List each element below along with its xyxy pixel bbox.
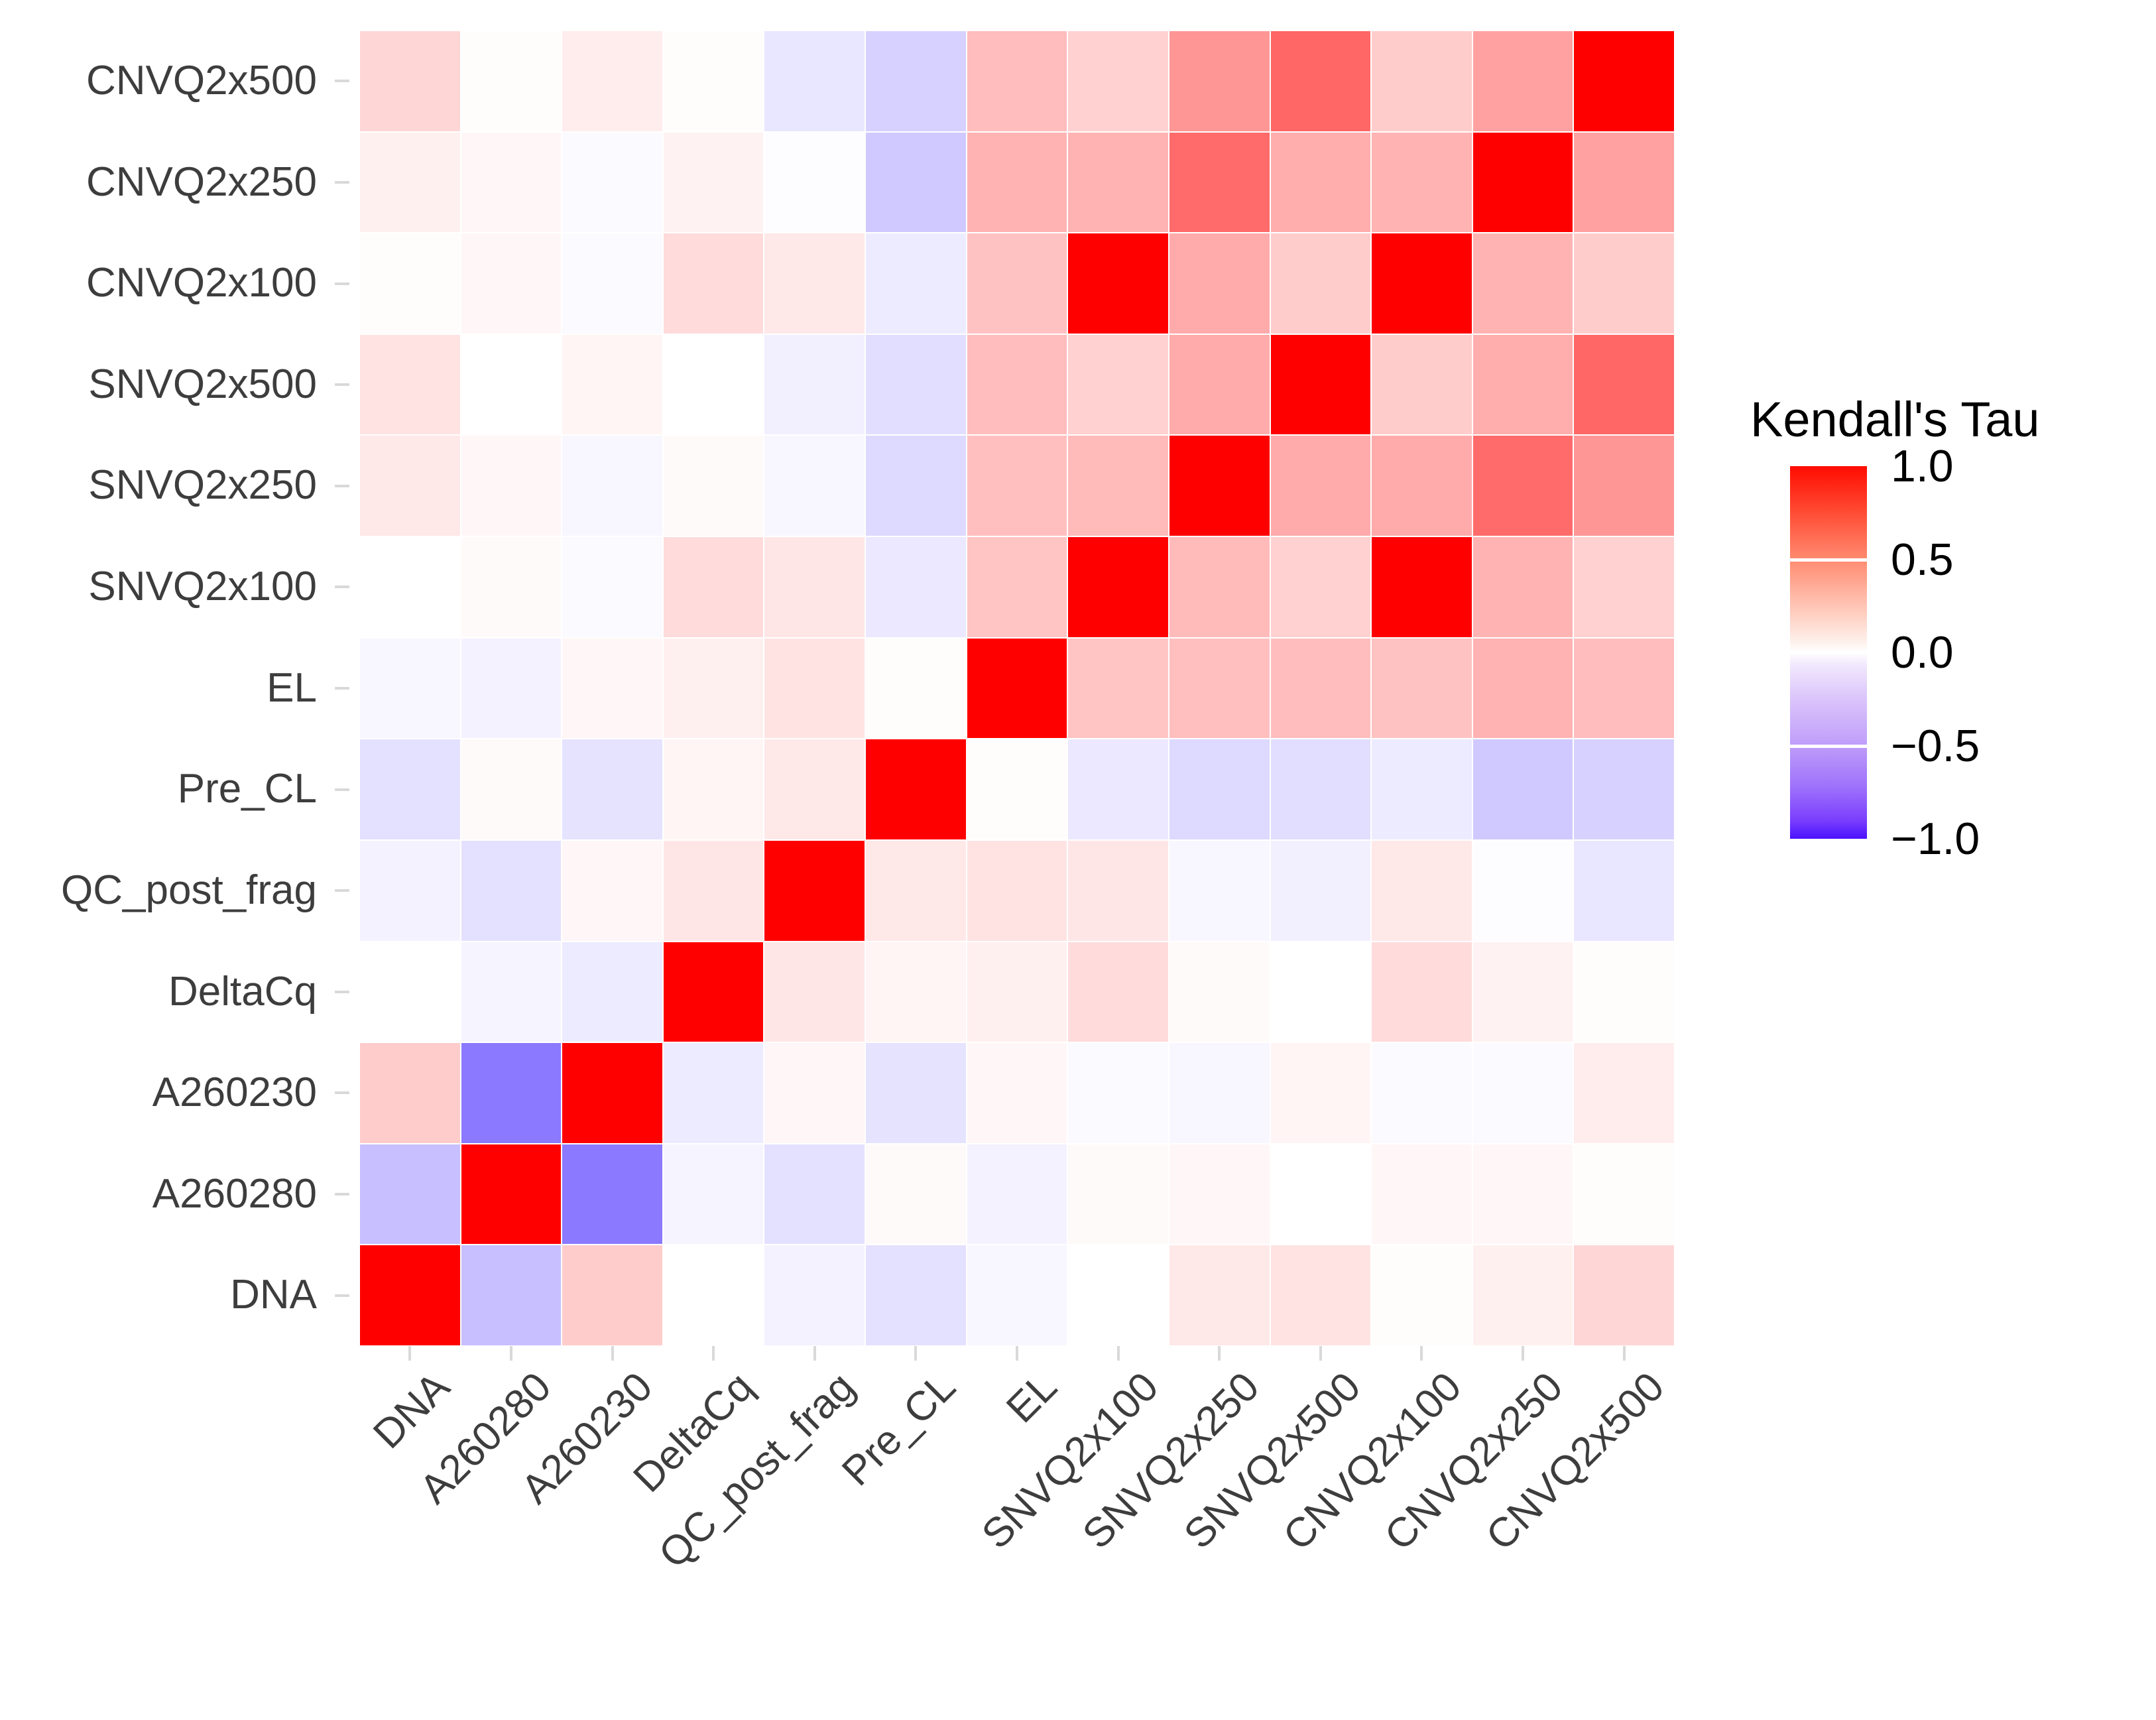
heatmap-cell <box>1067 31 1169 132</box>
heatmap-cell <box>359 536 461 638</box>
heatmap-cell <box>1067 1144 1169 1245</box>
heatmap-cell <box>1472 638 1574 739</box>
heatmap-grid <box>359 31 1675 1346</box>
heatmap-cell <box>461 1245 562 1346</box>
heatmap-cell <box>663 233 764 334</box>
heatmap-cell <box>1573 132 1675 233</box>
heatmap-cell <box>865 334 967 436</box>
heatmap-cell <box>865 233 967 334</box>
heatmap-cell <box>663 132 764 233</box>
heatmap-cell <box>461 638 562 739</box>
heatmap-cell <box>764 1042 865 1144</box>
heatmap-cell <box>461 233 562 334</box>
y-axis-tick <box>335 687 349 690</box>
heatmap-cell <box>1270 942 1372 1043</box>
heatmap-cell <box>1067 334 1169 436</box>
y-axis-tick <box>335 1091 349 1094</box>
heatmap-cell <box>1472 1245 1574 1346</box>
y-axis-tick <box>335 80 349 82</box>
heatmap-cell <box>1472 840 1574 942</box>
heatmap-cell <box>967 1144 1068 1245</box>
heatmap-cell <box>967 31 1068 132</box>
x-axis-tick <box>408 1346 411 1361</box>
y-axis-label: DeltaCq <box>168 942 317 1043</box>
y-axis-label: SNVQ2x500 <box>88 334 317 436</box>
heatmap-cell <box>562 840 663 942</box>
heatmap-cell <box>1067 536 1169 638</box>
heatmap-cell <box>865 739 967 840</box>
y-axis-tick <box>335 991 349 993</box>
x-axis-tick <box>914 1346 917 1361</box>
heatmap-cell <box>865 638 967 739</box>
heatmap-cell <box>764 1144 865 1245</box>
heatmap-cell <box>967 942 1068 1043</box>
legend-tick-label: −1.0 <box>1891 813 1980 865</box>
y-axis-tick <box>335 1193 349 1196</box>
heatmap-cell <box>562 536 663 638</box>
heatmap-cell <box>1472 739 1574 840</box>
heatmap-cell <box>1270 132 1372 233</box>
x-axis-tick <box>1016 1346 1018 1361</box>
heatmap-cell <box>764 334 865 436</box>
heatmap-cell <box>359 1144 461 1245</box>
heatmap-cell <box>1169 638 1270 739</box>
heatmap-cell <box>461 840 562 942</box>
heatmap-cell <box>1270 1042 1372 1144</box>
heatmap-cell <box>1371 334 1472 436</box>
x-axis-tick <box>1623 1346 1626 1361</box>
heatmap-cell <box>1067 233 1169 334</box>
heatmap-cell <box>1573 1245 1675 1346</box>
heatmap-cell <box>967 132 1068 233</box>
heatmap-cell <box>562 435 663 536</box>
heatmap-cell <box>764 233 865 334</box>
heatmap-cell <box>663 739 764 840</box>
legend-tick-mark <box>1790 558 1867 562</box>
heatmap-cell <box>1067 435 1169 536</box>
heatmap-cell <box>1067 1042 1169 1144</box>
heatmap-cell <box>1270 435 1372 536</box>
heatmap-cell <box>1573 31 1675 132</box>
heatmap-cell <box>1371 536 1472 638</box>
heatmap-cell <box>865 1144 967 1245</box>
heatmap-cell <box>1169 1042 1270 1144</box>
heatmap-cell <box>1169 334 1270 436</box>
heatmap-cell <box>1270 334 1372 436</box>
heatmap-cell <box>461 334 562 436</box>
x-axis-tick <box>1117 1346 1120 1361</box>
y-axis-tick <box>335 1294 349 1297</box>
heatmap-cell <box>1472 132 1574 233</box>
heatmap-cell <box>1270 536 1372 638</box>
legend-tick-mark <box>1790 745 1867 748</box>
heatmap-cell <box>1371 739 1472 840</box>
heatmap-cell <box>663 31 764 132</box>
heatmap-cell <box>1067 1245 1169 1346</box>
heatmap-cell <box>764 638 865 739</box>
heatmap-cell <box>562 132 663 233</box>
y-axis-label: DNA <box>230 1245 317 1346</box>
heatmap-cell <box>764 536 865 638</box>
heatmap-cell <box>359 840 461 942</box>
heatmap-cell <box>967 435 1068 536</box>
heatmap-cell <box>967 536 1068 638</box>
x-axis-tick <box>611 1346 614 1361</box>
heatmap-cell <box>1067 739 1169 840</box>
heatmap-cell <box>1169 435 1270 536</box>
y-axis-label: A260280 <box>152 1144 317 1245</box>
x-axis-labels: DNAA260280A260230DeltaCqQC_post_fragPre_… <box>359 1363 1675 1695</box>
heatmap-cell <box>562 31 663 132</box>
x-axis-tick <box>510 1346 512 1361</box>
heatmap-cell <box>865 1245 967 1346</box>
heatmap-cell <box>865 536 967 638</box>
x-axis-tick <box>1218 1346 1221 1361</box>
heatmap-cell <box>967 840 1068 942</box>
heatmap-cell <box>1067 942 1169 1043</box>
heatmap-cell <box>562 638 663 739</box>
heatmap-cell <box>1169 132 1270 233</box>
y-axis-label: SNVQ2x250 <box>88 435 317 536</box>
heatmap-cell <box>461 1144 562 1245</box>
heatmap-cell <box>1169 1144 1270 1245</box>
heatmap-cell <box>967 638 1068 739</box>
y-axis-tick <box>335 889 349 892</box>
heatmap-cell <box>359 942 461 1043</box>
heatmap-cell <box>1472 1144 1574 1245</box>
heatmap-cell <box>1573 739 1675 840</box>
heatmap-cell <box>562 1042 663 1144</box>
heatmap-cell <box>562 233 663 334</box>
x-axis-label: Pre_CL <box>833 1363 965 1495</box>
heatmap-cell <box>1573 1144 1675 1245</box>
y-axis-label: SNVQ2x100 <box>88 536 317 638</box>
x-axis-ticks <box>359 1346 1675 1362</box>
heatmap-cell <box>663 638 764 739</box>
x-axis-label: EL <box>997 1363 1066 1432</box>
heatmap-cell <box>865 435 967 536</box>
heatmap-cell <box>461 739 562 840</box>
heatmap-cell <box>359 1245 461 1346</box>
heatmap-cell <box>967 739 1068 840</box>
heatmap-cell <box>1371 31 1472 132</box>
heatmap-cell <box>865 132 967 233</box>
heatmap-cell <box>1371 1042 1472 1144</box>
heatmap-cell <box>1371 840 1472 942</box>
heatmap-cell <box>461 536 562 638</box>
heatmap-cell <box>764 132 865 233</box>
heatmap-cell <box>865 942 967 1043</box>
y-axis-label: CNVQ2x250 <box>86 132 317 233</box>
x-axis-tick <box>712 1346 715 1361</box>
heatmap-cell <box>1270 1144 1372 1245</box>
y-axis-labels: CNVQ2x500CNVQ2x250CNVQ2x100SNVQ2x500SNVQ… <box>0 31 331 1346</box>
y-axis-label: EL <box>267 638 317 739</box>
heatmap-cell <box>1169 233 1270 334</box>
x-axis-tick <box>1522 1346 1524 1361</box>
heatmap-cell <box>663 435 764 536</box>
heatmap-cell <box>1573 840 1675 942</box>
legend-tick-label: 0.0 <box>1891 627 1954 678</box>
heatmap-cell <box>1573 334 1675 436</box>
heatmap-cell <box>1472 334 1574 436</box>
y-axis-tick <box>335 585 349 588</box>
heatmap-cell <box>562 334 663 436</box>
heatmap-cell <box>461 132 562 233</box>
heatmap-cell <box>663 1245 764 1346</box>
heatmap-cell <box>1067 840 1169 942</box>
heatmap-cell <box>663 1144 764 1245</box>
heatmap-figure: CNVQ2x500CNVQ2x250CNVQ2x100SNVQ2x500SNVQ… <box>0 0 2156 1720</box>
heatmap-cell <box>1472 233 1574 334</box>
heatmap-cell <box>1472 536 1574 638</box>
heatmap-cell <box>1371 1245 1472 1346</box>
heatmap-cell <box>1371 942 1472 1043</box>
heatmap-cell <box>967 334 1068 436</box>
heatmap-cell <box>764 31 865 132</box>
heatmap-cell <box>1169 1245 1270 1346</box>
y-axis-label: A260230 <box>152 1042 317 1144</box>
heatmap-cell <box>1270 840 1372 942</box>
heatmap-cell <box>461 942 562 1043</box>
heatmap-cell <box>967 1042 1068 1144</box>
legend-tick-mark <box>1790 651 1867 654</box>
heatmap-cell <box>1169 739 1270 840</box>
heatmap-cell <box>865 31 967 132</box>
heatmap-cell <box>461 1042 562 1144</box>
heatmap-cell <box>1573 942 1675 1043</box>
heatmap-cell <box>1371 638 1472 739</box>
heatmap-cell <box>663 942 764 1043</box>
heatmap-cell <box>764 739 865 840</box>
x-axis-tick <box>1420 1346 1423 1361</box>
y-axis-tick <box>335 282 349 285</box>
heatmap-cell <box>359 435 461 536</box>
heatmap-cell <box>461 31 562 132</box>
heatmap-cell <box>865 840 967 942</box>
y-axis-tick <box>335 383 349 386</box>
legend-tick-label: −0.5 <box>1891 720 1980 772</box>
heatmap-cell <box>1371 132 1472 233</box>
heatmap-cell <box>1573 435 1675 536</box>
heatmap-cell <box>663 840 764 942</box>
y-axis-label: CNVQ2x100 <box>86 233 317 334</box>
heatmap-cell <box>1270 233 1372 334</box>
heatmap-cell <box>1270 1245 1372 1346</box>
heatmap-cell <box>663 334 764 436</box>
heatmap-cell <box>562 942 663 1043</box>
heatmap-cell <box>1169 942 1270 1043</box>
legend-tick-label: 1.0 <box>1891 440 1954 492</box>
x-axis-label: DNA <box>365 1363 459 1458</box>
heatmap-cell <box>1169 840 1270 942</box>
heatmap-cell <box>967 1245 1068 1346</box>
heatmap-cell <box>1371 233 1472 334</box>
heatmap-cell <box>562 1144 663 1245</box>
heatmap-cell <box>967 233 1068 334</box>
heatmap-cell <box>865 1042 967 1144</box>
heatmap-cell <box>1371 435 1472 536</box>
heatmap-cell <box>1169 536 1270 638</box>
legend-title: Kendall's Tau <box>1750 391 2040 448</box>
heatmap-cell <box>1371 1144 1472 1245</box>
y-axis-tick <box>335 181 349 184</box>
heatmap-cell <box>764 840 865 942</box>
heatmap-cell <box>663 536 764 638</box>
y-axis-tick <box>335 788 349 791</box>
y-axis-tick <box>335 485 349 487</box>
y-axis-label: QC_post_frag <box>61 840 317 942</box>
heatmap-cell <box>562 1245 663 1346</box>
heatmap-cell <box>1472 942 1574 1043</box>
y-axis-label: CNVQ2x500 <box>86 31 317 132</box>
heatmap-cell <box>461 435 562 536</box>
heatmap-cell <box>359 739 461 840</box>
heatmap-cell <box>359 132 461 233</box>
heatmap-cell <box>1573 1042 1675 1144</box>
heatmap-cell <box>1573 536 1675 638</box>
heatmap-cell <box>359 334 461 436</box>
heatmap-cell <box>1472 1042 1574 1144</box>
heatmap-cell <box>1472 31 1574 132</box>
heatmap-cell <box>764 942 865 1043</box>
heatmap-cell <box>1270 31 1372 132</box>
heatmap-cell <box>359 1042 461 1144</box>
heatmap-cell <box>1270 739 1372 840</box>
heatmap-cell <box>663 1042 764 1144</box>
heatmap-cell <box>1573 638 1675 739</box>
legend-tick-label: 0.5 <box>1891 534 1954 585</box>
x-axis-tick <box>1319 1346 1322 1361</box>
heatmap-cell <box>1270 638 1372 739</box>
legend: Kendall's Tau 1.00.50.0−0.5−1.0 <box>1750 391 2148 988</box>
heatmap-cell <box>359 31 461 132</box>
heatmap-cell <box>1067 638 1169 739</box>
heatmap-cell <box>562 739 663 840</box>
heatmap-cell <box>359 638 461 739</box>
heatmap-cell <box>1472 435 1574 536</box>
heatmap-cell <box>764 1245 865 1346</box>
y-axis-label: Pre_CL <box>178 739 317 840</box>
heatmap-cell <box>1169 31 1270 132</box>
heatmap-cell <box>1067 132 1169 233</box>
heatmap-cell <box>764 435 865 536</box>
heatmap-cell <box>359 233 461 334</box>
x-axis-tick <box>813 1346 816 1361</box>
heatmap-cell <box>1573 233 1675 334</box>
